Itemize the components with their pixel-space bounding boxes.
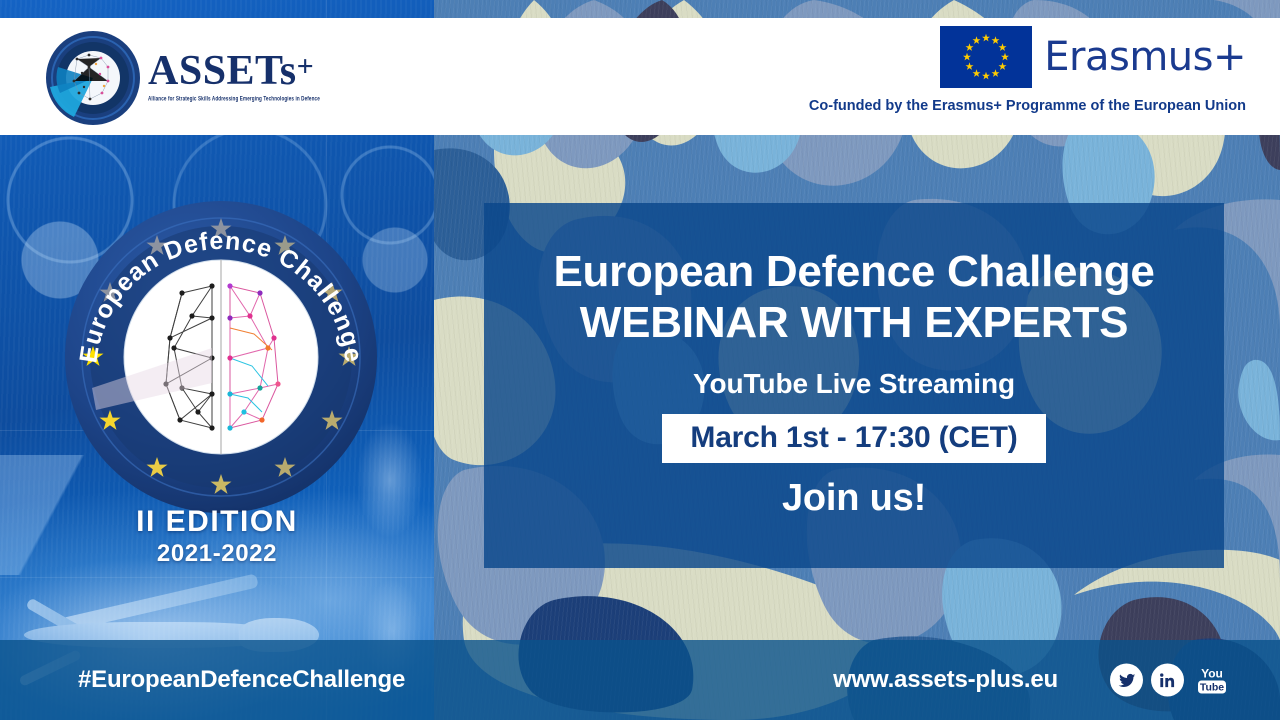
assets-plus-logo[interactable]: ASSETs+ Alliance for Strategic Skills Ad… xyxy=(44,28,294,128)
assets-wordmark-block: ASSETs+ Alliance for Strategic Skills Ad… xyxy=(148,52,320,104)
svg-text:You: You xyxy=(1201,666,1223,680)
edition-block: II EDITION 2021-2022 xyxy=(0,505,434,568)
erasmus-wordmark: Erasmus+ xyxy=(1044,34,1246,80)
footer-bar: #EuropeanDefenceChallenge www.assets-plu… xyxy=(0,640,1280,720)
event-info-panel: European Defence Challenge WEBINAR WITH … xyxy=(484,203,1224,568)
linkedin-icon[interactable] xyxy=(1151,664,1184,697)
assets-wordmark-plus: + xyxy=(297,50,315,83)
assets-tagline: Alliance for Strategic Skills Addressing… xyxy=(148,95,320,102)
header-bar: ASSETs+ Alliance for Strategic Skills Ad… xyxy=(0,18,1280,135)
erasmus-plus-logo[interactable]: Erasmus+ xyxy=(940,26,1246,88)
poster-canvas: ASSETs+ Alliance for Strategic Skills Ad… xyxy=(0,0,1280,720)
assets-brain-circle-icon xyxy=(44,29,142,127)
event-streaming-label: YouTube Live Streaming xyxy=(693,368,1015,400)
cofunded-disclaimer: Co-funded by the Erasmus+ Programme of t… xyxy=(809,98,1246,114)
footer-website[interactable]: www.assets-plus.eu xyxy=(833,666,1058,694)
footer-hashtag: #EuropeanDefenceChallenge xyxy=(78,666,405,694)
event-title-line2: WEBINAR WITH EXPERTS xyxy=(580,298,1128,347)
youtube-icon[interactable]: You Tube xyxy=(1192,664,1232,697)
european-defence-challenge-badge: European Defence Challenge xyxy=(62,198,380,516)
event-date-badge: March 1st - 17:30 (CET) xyxy=(662,414,1045,463)
social-links: You Tube xyxy=(1110,664,1232,697)
twitter-icon[interactable] xyxy=(1110,664,1143,697)
event-date-text: March 1st - 17:30 (CET) xyxy=(690,421,1017,454)
eu-flag-icon xyxy=(940,26,1032,88)
svg-text:Tube: Tube xyxy=(1200,681,1224,693)
edition-label: II EDITION xyxy=(0,505,434,538)
event-title-line1: European Defence Challenge xyxy=(553,247,1154,296)
assets-wordmark-text: ASSETs xyxy=(148,48,297,94)
assets-wordmark: ASSETs+ xyxy=(148,52,320,92)
edition-years: 2021-2022 xyxy=(0,540,434,568)
event-cta: Join us! xyxy=(782,477,926,520)
